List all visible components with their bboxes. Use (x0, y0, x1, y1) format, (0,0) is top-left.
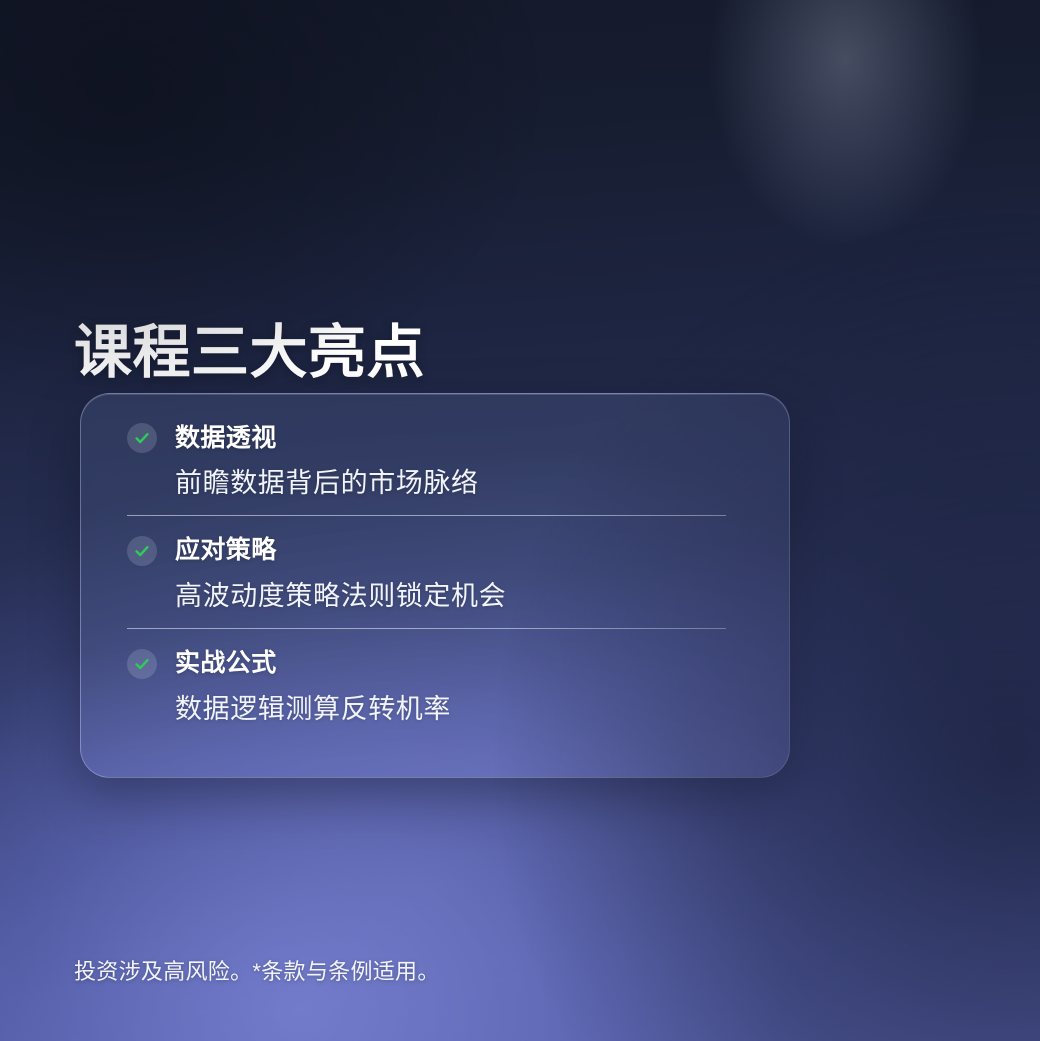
promo-slide: 课程三大亮点 数据透视 前瞻数据背后的市场脉络 (0, 0, 1040, 1041)
list-item: 实战公式 数据逻辑测算反转机率 (127, 629, 743, 742)
feature-title: 实战公式 (175, 651, 277, 676)
check-icon (127, 536, 157, 566)
highlights-card: 数据透视 前瞻数据背后的市场脉络 应对策略 高波动度策略法则锁定机会 (80, 393, 790, 778)
feature-header: 数据透视 (127, 423, 743, 453)
check-icon (127, 423, 157, 453)
page-title: 课程三大亮点 (74, 321, 425, 386)
list-item: 应对策略 高波动度策略法则锁定机会 (127, 516, 743, 629)
feature-title: 数据透视 (175, 426, 277, 451)
feature-header: 实战公式 (127, 649, 743, 679)
disclaimer-text: 投资涉及高风险。*条款与条例适用。 (74, 954, 440, 986)
check-icon (127, 649, 157, 679)
feature-description: 前瞻数据背后的市场脉络 (175, 468, 743, 500)
feature-description: 数据逻辑测算反转机率 (175, 694, 743, 726)
feature-title: 应对策略 (175, 538, 277, 563)
feature-description: 高波动度策略法则锁定机会 (175, 581, 743, 613)
feature-header: 应对策略 (127, 536, 743, 566)
list-item: 数据透视 前瞻数据背后的市场脉络 (127, 423, 743, 516)
highlights-list: 数据透视 前瞻数据背后的市场脉络 应对策略 高波动度策略法则锁定机会 (127, 423, 743, 777)
